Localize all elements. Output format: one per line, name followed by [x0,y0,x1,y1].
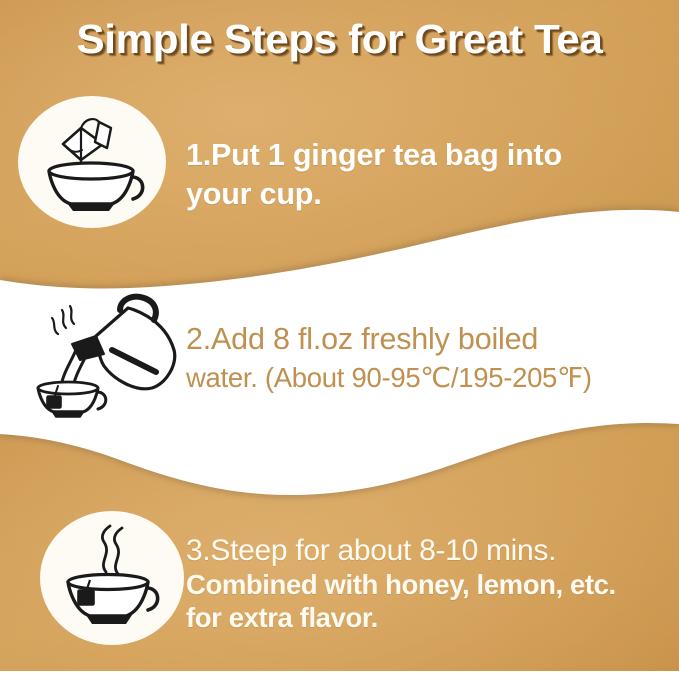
teacup-with-teabag-icon [37,107,147,217]
step-2-icon [28,288,180,418]
step-3-text: 3.Steep for about 8-10 mins. Combined wi… [186,534,616,634]
step-2-text: 2.Add 8 fl.oz freshly boiled water. (Abo… [186,320,592,397]
steaming-teacup-icon [56,520,168,636]
step-2-line-2: water. (About 90-95℃/195-205℉) [186,359,592,397]
step-1-icon-badge [18,96,166,228]
bottom-white-edge [0,671,679,679]
tea-brewing-instructions-infographic: Simple Steps for Great Tea 1.Put 1 gi [0,0,679,679]
step-1-text: 1.Put 1 ginger tea bag into your cup. [186,136,562,214]
step-3-icon-badge [40,511,184,645]
kettle-pouring-into-cup-icon [28,288,180,418]
step-1-line-1: 1.Put 1 ginger tea bag into [186,136,562,175]
page-title: Simple Steps for Great Tea [0,16,679,63]
step-2-line-1: 2.Add 8 fl.oz freshly boiled [186,320,592,359]
step-3-line-1: 3.Steep for about 8-10 mins. [186,534,616,568]
step-3-line-2: Combined with honey, lemon, etc. [186,568,616,601]
step-3-line-3: for extra flavor. [186,601,616,634]
step-1-line-2: your cup. [186,175,562,214]
